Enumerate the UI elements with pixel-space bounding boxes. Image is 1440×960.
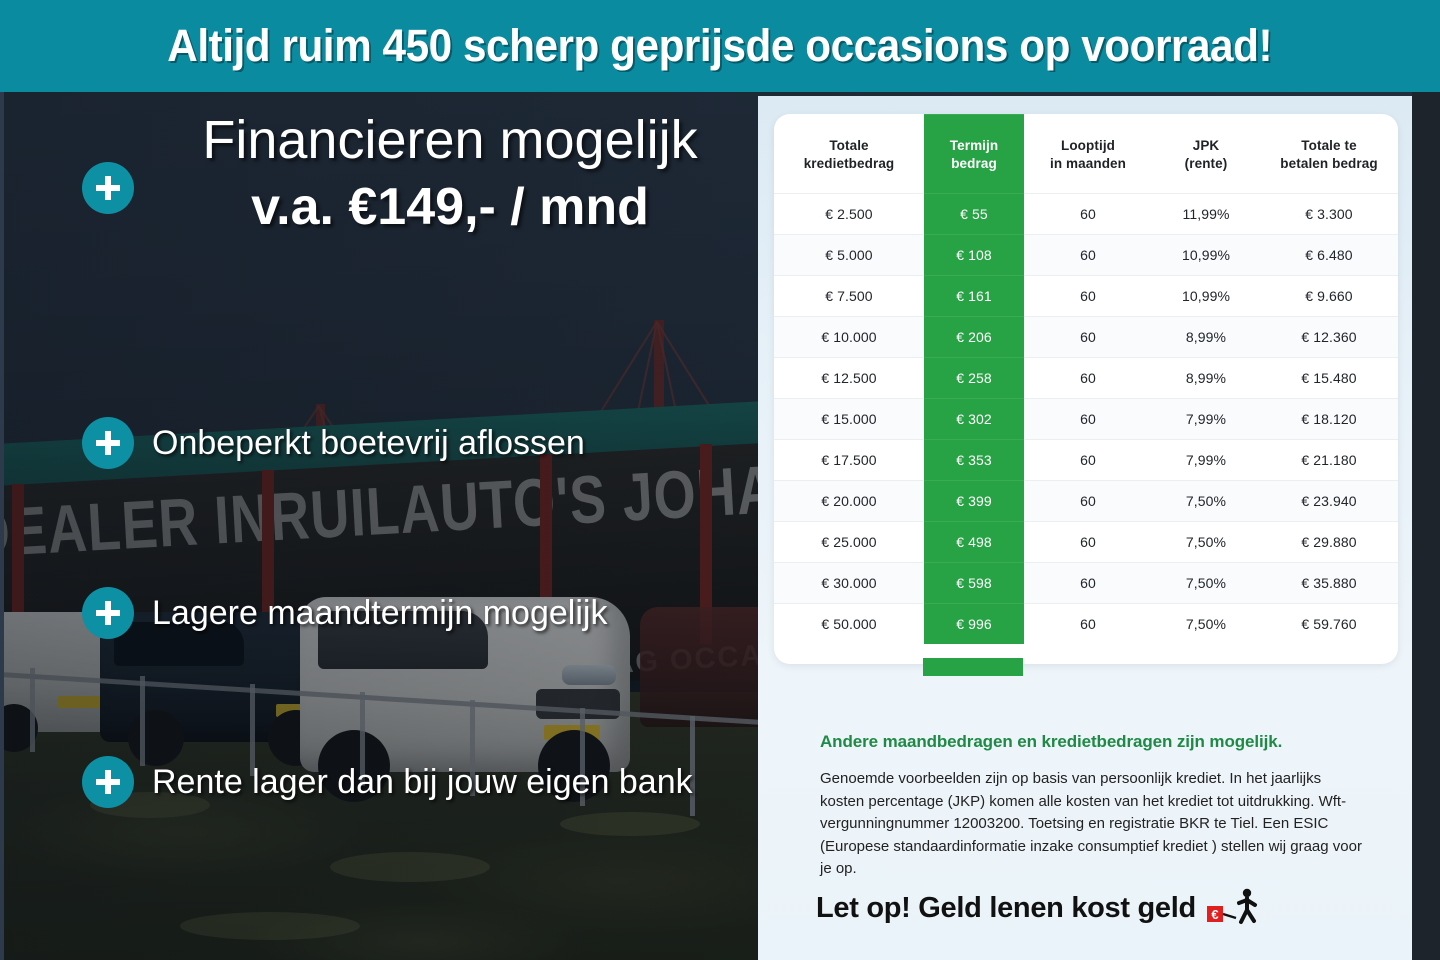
table-row: € 25.000€ 498607,50%€ 29.880 — [774, 522, 1398, 563]
table-cell: 60 — [1024, 481, 1152, 522]
column-header-monthly-amount: Termijn bedrag — [924, 115, 1024, 194]
table-cell: € 399 — [924, 481, 1024, 522]
table-cell: € 30.000 — [774, 563, 924, 604]
promo-bullet-2: Rente lager dan bij jouw eigen bank — [82, 756, 693, 808]
table-cell: € 302 — [924, 399, 1024, 440]
promo-headline: Financieren mogelijk v.a. €149,- / mnd — [150, 110, 750, 239]
frame-edge-left — [0, 92, 4, 960]
table-cell: 60 — [1024, 235, 1152, 276]
promo-headline-line1: Financieren mogelijk — [150, 110, 750, 170]
promo-bullet-0: Onbeperkt boetevrij aflossen — [82, 417, 585, 469]
table-cell: € 3.300 — [1260, 194, 1398, 235]
table-row: € 30.000€ 598607,50%€ 35.880 — [774, 563, 1398, 604]
table-cell: € 21.180 — [1260, 440, 1398, 481]
disclaimer-title: Andere maandbedragen en kredietbedragen … — [820, 732, 1380, 752]
finance-rate-table: Totale kredietbedrag Termijn bedrag Loop… — [774, 114, 1398, 644]
table-cell: 60 — [1024, 399, 1152, 440]
table-row: € 17.500€ 353607,99%€ 21.180 — [774, 440, 1398, 481]
table-cell: € 5.000 — [774, 235, 924, 276]
table-cell: 8,99% — [1152, 358, 1260, 399]
header-banner-text: Altijd ruim 450 scherp geprijsde occasio… — [168, 20, 1273, 72]
table-cell: € 15.480 — [1260, 358, 1398, 399]
table-cell: 7,50% — [1152, 522, 1260, 563]
table-cell: € 15.000 — [774, 399, 924, 440]
plus-icon — [82, 162, 134, 214]
table-cell: 10,99% — [1152, 276, 1260, 317]
table-cell: € 50.000 — [774, 604, 924, 645]
table-cell: € 18.120 — [1260, 399, 1398, 440]
promo-headline-line2: v.a. €149,- / mnd — [150, 176, 750, 238]
table-cell: € 20.000 — [774, 481, 924, 522]
table-cell: € 12.500 — [774, 358, 924, 399]
table-cell: € 108 — [924, 235, 1024, 276]
table-cell: 10,99% — [1152, 235, 1260, 276]
table-cell: 60 — [1024, 358, 1152, 399]
promo-bullet-label: Lagere maandtermijn mogelijk — [152, 594, 607, 633]
table-cell: € 206 — [924, 317, 1024, 358]
table-cell: 8,99% — [1152, 317, 1260, 358]
table-cell: 7,50% — [1152, 604, 1260, 645]
promo-bullet-label: Onbeperkt boetevrij aflossen — [152, 424, 585, 463]
table-cell: € 25.000 — [774, 522, 924, 563]
table-cell: € 35.880 — [1260, 563, 1398, 604]
plus-icon — [82, 587, 134, 639]
table-cell: 60 — [1024, 522, 1152, 563]
table-cell: 60 — [1024, 604, 1152, 645]
table-cell: 60 — [1024, 317, 1152, 358]
finance-info-panel: Totale kredietbedrag Termijn bedrag Loop… — [758, 96, 1413, 960]
table-row: € 20.000€ 399607,50%€ 23.940 — [774, 481, 1398, 522]
table-cell: € 598 — [924, 563, 1024, 604]
table-cell: 60 — [1024, 563, 1152, 604]
table-cell: € 29.880 — [1260, 522, 1398, 563]
table-header-row: Totale kredietbedrag Termijn bedrag Loop… — [774, 115, 1398, 194]
table-cell: 60 — [1024, 440, 1152, 481]
table-cell: 60 — [1024, 276, 1152, 317]
table-cell: 11,99% — [1152, 194, 1260, 235]
disclaimer-body: Genoemde voorbeelden zijn op basis van p… — [820, 768, 1365, 881]
svg-text:€: € — [1211, 907, 1218, 922]
table-cell: 7,50% — [1152, 481, 1260, 522]
table-cell: 60 — [1024, 194, 1152, 235]
afm-warning-icon: € — [1206, 888, 1264, 928]
plus-icon — [82, 756, 134, 808]
table-row: € 10.000€ 206608,99%€ 12.360 — [774, 317, 1398, 358]
promo-copy: Financieren mogelijk v.a. €149,- / mnd O… — [0, 92, 760, 960]
table-cell: € 59.760 — [1260, 604, 1398, 645]
promo-bullet-1: Lagere maandtermijn mogelijk — [82, 587, 607, 639]
table-row: € 15.000€ 302607,99%€ 18.120 — [774, 399, 1398, 440]
header-banner: Altijd ruim 450 scherp geprijsde occasio… — [0, 0, 1440, 92]
table-cell: € 12.360 — [1260, 317, 1398, 358]
table-body: € 2.500€ 556011,99%€ 3.300€ 5.000€ 10860… — [774, 194, 1398, 645]
table-cell: € 353 — [924, 440, 1024, 481]
column-header-interest: JPK (rente) — [1152, 115, 1260, 194]
column-header-duration: Looptijd in maanden — [1024, 115, 1152, 194]
advertisement-banner: Altijd ruim 450 scherp geprijsde occasio… — [0, 0, 1440, 960]
table-cell: € 498 — [924, 522, 1024, 563]
table-cell: € 9.660 — [1260, 276, 1398, 317]
table-cell: € 17.500 — [774, 440, 924, 481]
column-header-total-payable: Totale te betalen bedrag — [1260, 115, 1398, 194]
table-cell: € 2.500 — [774, 194, 924, 235]
table-cell: 7,50% — [1152, 563, 1260, 604]
table-cell: € 6.480 — [1260, 235, 1398, 276]
loan-warning-text: Let op! Geld lenen kost geld — [816, 892, 1196, 925]
frame-edge-right — [1412, 92, 1440, 960]
table-cell: € 23.940 — [1260, 481, 1398, 522]
rate-table-card: Totale kredietbedrag Termijn bedrag Loop… — [774, 114, 1398, 664]
table-row: € 7.500€ 1616010,99%€ 9.660 — [774, 276, 1398, 317]
table-cell: € 258 — [924, 358, 1024, 399]
table-row: € 5.000€ 1086010,99%€ 6.480 — [774, 235, 1398, 276]
table-row: € 12.500€ 258608,99%€ 15.480 — [774, 358, 1398, 399]
table-cell: € 55 — [924, 194, 1024, 235]
table-row: € 50.000€ 996607,50%€ 59.760 — [774, 604, 1398, 645]
highlight-column-tail — [923, 658, 1023, 676]
table-cell: € 161 — [924, 276, 1024, 317]
table-cell: € 10.000 — [774, 317, 924, 358]
loan-warning: Let op! Geld lenen kost geld € — [816, 888, 1264, 928]
table-cell: € 7.500 — [774, 276, 924, 317]
table-cell: 7,99% — [1152, 440, 1260, 481]
table-cell: 7,99% — [1152, 399, 1260, 440]
table-cell: € 996 — [924, 604, 1024, 645]
promo-bullet-label: Rente lager dan bij jouw eigen bank — [152, 763, 693, 802]
column-header-total-credit: Totale kredietbedrag — [774, 115, 924, 194]
table-row: € 2.500€ 556011,99%€ 3.300 — [774, 194, 1398, 235]
plus-icon — [82, 417, 134, 469]
